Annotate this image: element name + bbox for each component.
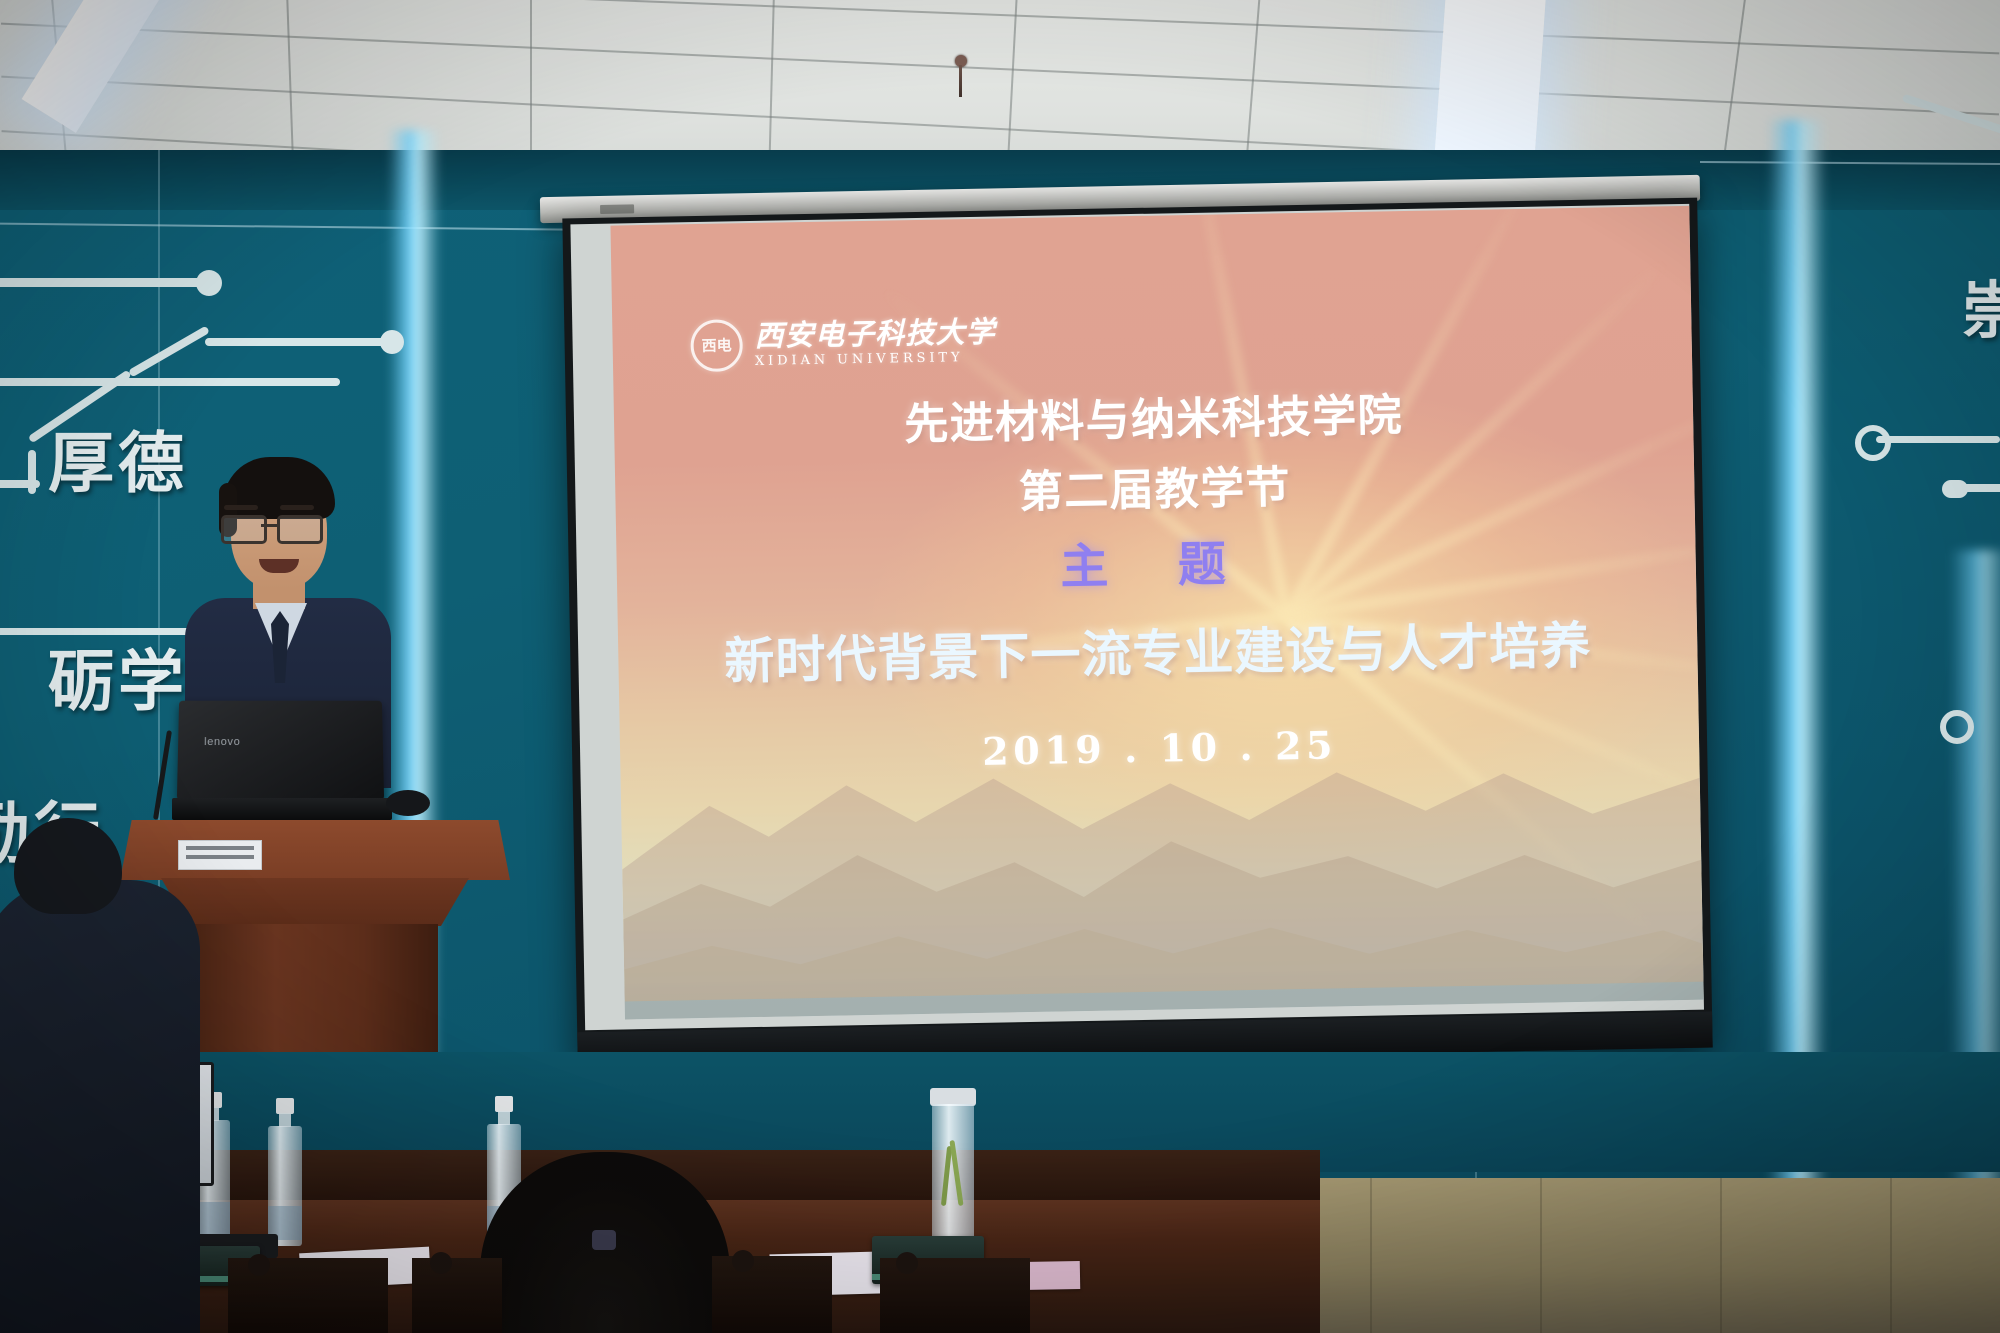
eyeglasses-bridge bbox=[261, 524, 277, 527]
laptop-brand-label: lenovo bbox=[204, 736, 240, 748]
university-name-en: XIDIAN UNIVERSITY bbox=[755, 351, 996, 368]
eyeglasses-right-lens bbox=[277, 515, 323, 544]
housing-badge bbox=[600, 204, 634, 214]
projection-screen: 西电 西安电子科技大学 XIDIAN UNIVERSITY 先进材料与纳米科技学… bbox=[562, 198, 1712, 1069]
chair-3 bbox=[712, 1256, 832, 1333]
lectern-nameplate bbox=[178, 840, 262, 870]
chair-1-arm bbox=[248, 1254, 270, 1276]
sprinkler-icon bbox=[955, 55, 967, 67]
projected-slide: 西电 西安电子科技大学 XIDIAN UNIVERSITY 先进材料与纳米科技学… bbox=[610, 206, 1703, 1020]
emblem-label: 西电 bbox=[702, 338, 732, 354]
wall-joint-horizontal-1 bbox=[0, 223, 640, 232]
lectern-top bbox=[120, 820, 510, 880]
chair-4-arm bbox=[896, 1252, 918, 1274]
chair-2-arm bbox=[430, 1252, 452, 1274]
laptop-lid: lenovo bbox=[177, 701, 384, 801]
glass-tea-jar bbox=[930, 1088, 976, 1240]
laptop-base bbox=[172, 798, 392, 820]
eyeglasses-left-lens bbox=[221, 515, 267, 544]
university-emblem-icon: 西电 bbox=[690, 319, 743, 372]
hair-tie bbox=[592, 1230, 616, 1250]
chair-2 bbox=[412, 1258, 502, 1333]
lecture-hall-photo: 厚德 砺学 励行 崇 bbox=[0, 0, 2000, 1333]
screen-surface: 西电 西安电子科技大学 XIDIAN UNIVERSITY 先进材料与纳米科技学… bbox=[570, 204, 1704, 1030]
wall-word-houde: 厚德 bbox=[48, 410, 188, 506]
xidian-logo: 西电 西安电子科技大学 XIDIAN UNIVERSITY bbox=[690, 315, 996, 373]
chair-3-arm bbox=[732, 1250, 754, 1272]
speaker-eyebrow-right bbox=[280, 505, 314, 510]
wall-word-lixue: 砺学 bbox=[48, 628, 188, 724]
podium-laptop: lenovo bbox=[178, 700, 383, 820]
wall-word-chong: 崇 bbox=[1962, 260, 2000, 350]
audience-person-left bbox=[0, 880, 200, 1333]
microphone-head bbox=[386, 790, 430, 816]
floor-tiles bbox=[1250, 1178, 2000, 1333]
speaker-eyebrow-left bbox=[224, 505, 258, 510]
university-name-cn: 西安电子科技大学 bbox=[754, 318, 996, 351]
